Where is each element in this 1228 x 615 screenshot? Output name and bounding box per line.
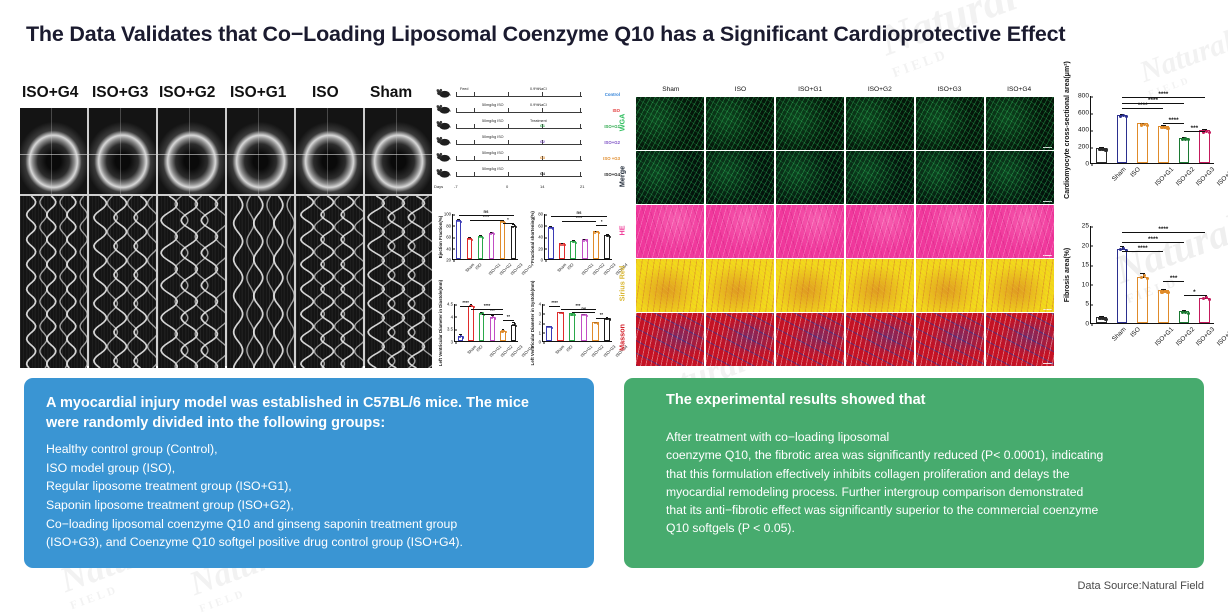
chart-data-point <box>493 233 495 235</box>
significance-label: **** <box>1122 102 1163 109</box>
chart-data-point <box>1208 131 1211 134</box>
chart-y-tick: 0 <box>1085 161 1091 168</box>
chart-x-tick: Sham <box>556 262 567 273</box>
chart-data-point <box>1104 148 1107 151</box>
chart-x-tick: ISO+G2 <box>1174 166 1195 187</box>
masson-stain-image <box>846 313 914 366</box>
chart-y-label: Fibrosis area(%) <box>1064 248 1071 302</box>
mouse-icon <box>436 168 451 179</box>
significance-label: **** <box>1122 226 1205 233</box>
sirius-red-stain-image <box>986 259 1054 312</box>
timeline-treatment: G4 <box>540 172 545 176</box>
sirius-red-stain-image <box>706 259 774 312</box>
chart-data-point <box>586 315 588 317</box>
chart-y-tick: 0 <box>541 258 545 263</box>
masson-stain-image <box>986 313 1054 366</box>
echo-label-3: ISO+G1 <box>230 84 286 102</box>
chart-y-label: Fractional shortening(%) <box>530 211 535 263</box>
masson-stain-image <box>916 313 984 366</box>
timeline-treatment: G3 <box>540 156 545 160</box>
significance-label: **** <box>1122 236 1184 243</box>
chart-data-point <box>575 242 577 244</box>
timeline-day-tick: 14 <box>540 184 544 189</box>
scale-bar <box>1043 255 1052 256</box>
chart-y-tick: 2 <box>539 321 543 326</box>
chart-data-point <box>1166 291 1169 294</box>
chart-y-tick: 0 <box>1085 321 1091 328</box>
chart-bar <box>1158 290 1169 323</box>
timeline-phase2: 0.9%NaCl <box>530 87 547 91</box>
chart-bar <box>1137 123 1148 163</box>
significance-label: **** <box>1122 245 1163 252</box>
chart-bar <box>511 226 517 259</box>
chart-data-point <box>515 226 517 228</box>
chart-plot-area: 20406080100ShamISOISO+G1ISO+G2ISO+G3ISO+… <box>452 214 518 260</box>
chart-y-label: Left Ventricular Diameter in Diastole(mm… <box>438 280 443 366</box>
data-source-footer: Data Source:Natural Field <box>1077 580 1204 592</box>
echo-mmode-image <box>20 196 87 368</box>
timeline-day-tick: -7 <box>454 184 458 189</box>
echo-bmode-image <box>365 108 432 194</box>
chart-bar <box>1137 277 1148 323</box>
chart-bar <box>557 312 563 341</box>
chart-y-tick: 3 <box>451 340 455 345</box>
lv-diameter-systole-chart: Left Ventricular Diameter in Systole(mm)… <box>528 290 618 366</box>
chart-y-tick: 4 <box>539 302 543 307</box>
histology-column-header: ISO+G1 <box>775 86 845 93</box>
significance-line <box>460 306 471 307</box>
echo-bmode-image <box>20 108 87 194</box>
wga-stain-image <box>846 97 914 150</box>
chart-bar <box>593 231 599 259</box>
chart-bar <box>500 221 506 259</box>
he-stain-image <box>916 205 984 258</box>
timeline-phase2: Treatment <box>530 119 547 123</box>
echo-label-1: ISO+G3 <box>92 84 148 102</box>
chart-x-tick: ISO+G1 <box>1154 166 1175 187</box>
timeline-row: 50mg/kg ISOG4ISO+G4 <box>434 164 620 180</box>
mouse-icon <box>436 120 451 131</box>
scale-bar <box>1043 309 1052 310</box>
echo-mmode-image <box>365 196 432 368</box>
timeline-phase1: 50mg/kg ISO <box>482 135 504 139</box>
merge-stain-image <box>776 151 844 204</box>
chart-x-tick: Sham <box>1111 326 1128 343</box>
timeline-phase1: 50mg/kg ISO <box>482 151 504 155</box>
significance-line <box>549 306 561 307</box>
histology-row-label: Masson <box>618 312 627 364</box>
chart-y-tick: 60 <box>538 223 545 228</box>
significance-line <box>470 220 503 221</box>
chart-x-tick: ISO <box>565 344 574 353</box>
methods-callout-box: A myocardial injury model was establishe… <box>24 378 594 568</box>
scale-bar <box>1043 363 1052 364</box>
chart-bar <box>1199 130 1210 163</box>
mouse-icon <box>436 88 451 99</box>
histology-column-header: ISO <box>706 86 776 93</box>
chart-data-point <box>1104 318 1107 321</box>
mouse-icon <box>436 152 451 163</box>
histology-column-header: Sham <box>636 86 706 93</box>
significance-label: ns <box>572 306 595 311</box>
chart-data-point <box>460 221 462 223</box>
scale-bar <box>1043 201 1052 202</box>
timeline-days-label: Days <box>434 184 443 189</box>
significance-label: *** <box>1163 275 1184 282</box>
timeline-phase1: Feed <box>460 87 468 91</box>
histology-column-headers: ShamISOISO+G1ISO+G2ISO+G3ISO+G4 <box>636 84 1054 97</box>
significance-label: * <box>596 219 607 224</box>
chart-y-tick: 60 <box>446 235 453 240</box>
timeline-phase1: 50mg/kg ISO <box>482 119 504 123</box>
fibrosis-area-chart: Fibrosis area(%)0510152025ShamISOISO+G1I… <box>1060 212 1220 364</box>
chart-bar <box>468 306 474 341</box>
significance-label: ** <box>503 314 514 319</box>
significance-label: * <box>1184 289 1205 296</box>
chart-plot-area: 0200400600800ShamISOISO+G1ISO+G2ISO+G3IS… <box>1090 96 1214 164</box>
histology-column-header: ISO+G2 <box>845 86 915 93</box>
chart-x-tick: ISO+G1 <box>1154 326 1175 347</box>
chart-plot-area: 01234ShamISOISO+G1ISO+G2ISO+G3ISO+G4****… <box>542 304 612 342</box>
chart-y-tick: 100 <box>444 212 453 217</box>
chart-y-tick: 25 <box>1082 223 1091 230</box>
chart-data-point <box>1187 312 1190 315</box>
he-stain-image <box>846 205 914 258</box>
chart-y-label: Ejection Fraction(%) <box>438 216 443 258</box>
chart-bar <box>1117 249 1128 323</box>
chart-y-tick: 10 <box>1082 281 1091 288</box>
chart-x-tick: Sham <box>464 262 475 273</box>
echo-label-5: Sham <box>370 84 412 102</box>
echo-bmode-image <box>296 108 363 194</box>
chart-bar <box>456 220 462 259</box>
chart-data-point <box>515 325 517 327</box>
chart-data-point <box>1208 298 1211 301</box>
chart-y-tick: 4 <box>451 314 455 319</box>
chart-y-tick: 200 <box>1078 144 1091 151</box>
histology-image-grid <box>636 97 1054 366</box>
significance-label: * <box>503 217 514 222</box>
echo-label-0: ISO+G4 <box>22 84 78 102</box>
chart-y-tick: 20 <box>538 246 545 251</box>
timeline-treatment: G2 <box>540 140 545 144</box>
cardiomyocyte-area-chart: Cardiomyocyte cross-sectional area(μm²)0… <box>1060 88 1220 198</box>
chart-y-tick: 20 <box>446 258 453 263</box>
significance-label: **** <box>549 300 561 305</box>
significance-line <box>596 318 608 319</box>
chart-y-tick: 80 <box>446 223 453 228</box>
chart-data-point <box>1166 127 1169 130</box>
chart-x-tick: ISO <box>474 262 483 271</box>
chart-y-tick: 0 <box>539 340 543 345</box>
chart-bar <box>569 313 575 341</box>
chart-bar <box>1117 115 1128 163</box>
chart-data-point <box>1146 124 1149 127</box>
merge-stain-image <box>986 151 1054 204</box>
chart-y-label: Left Ventricular Diameter in Systole(mm) <box>530 281 535 366</box>
significance-label: *** <box>482 308 503 313</box>
chart-x-tick: ISO <box>1130 326 1143 339</box>
chart-y-tick: 3.5 <box>447 327 455 332</box>
chart-y-tick: 40 <box>538 235 545 240</box>
echo-bmode-image <box>227 108 294 194</box>
he-stain-image <box>986 205 1054 258</box>
echo-mmode-image <box>89 196 156 368</box>
methods-heading: A myocardial injury model was establishe… <box>46 394 546 433</box>
chart-y-tick: 3 <box>539 311 543 316</box>
chart-x-tick: ISO+G4 <box>1216 326 1228 347</box>
chart-y-label: Cardiomyocyte cross-sectional area(μm²) <box>1064 61 1071 199</box>
masson-stain-image <box>636 313 704 366</box>
significance-line <box>482 314 503 315</box>
significance-label: **** <box>470 214 503 219</box>
chart-data-point <box>598 232 600 234</box>
significance-label: **** <box>460 300 471 305</box>
timeline-phase1: 50mg/kg ISO <box>482 103 504 107</box>
chart-y-tick: 600 <box>1078 110 1091 117</box>
chart-data-point <box>552 227 554 229</box>
results-callout-box: The experimental results showed that Aft… <box>624 378 1204 568</box>
echocardiography-panel: ISO+G4 ISO+G3 ISO+G2 ISO+G1 ISO Sham <box>20 84 432 366</box>
sirius-red-stain-image <box>636 259 704 312</box>
histology-row-label: Merge <box>618 150 627 202</box>
chart-x-tick: ISO <box>475 344 484 353</box>
significance-label: ns <box>551 210 608 215</box>
significance-line <box>562 221 596 222</box>
significance-line <box>572 312 595 313</box>
significance-line <box>503 320 514 321</box>
chart-data-point <box>1187 138 1190 141</box>
chart-data-point <box>482 237 484 239</box>
timeline-row: 50mg/kg ISOG3ISO +G3 <box>434 148 620 164</box>
timeline-row: 50mg/kg ISOTreatmentG1ISO+G1 <box>434 116 620 132</box>
merge-stain-image <box>706 151 774 204</box>
page-title: The Data Validates that Co−Loading Lipos… <box>26 22 1065 47</box>
timeline-row: Feed0.9%NaClControl <box>434 84 620 100</box>
he-stain-image <box>776 205 844 258</box>
echo-mmode-image <box>227 196 294 368</box>
experiment-timeline-diagram: Feed0.9%NaClControl50mg/kg ISO0.9%NaClIS… <box>434 84 620 192</box>
significance-label: **** <box>1163 117 1184 124</box>
chart-x-tick: ISO+G3 <box>1195 326 1216 347</box>
significance-label: **** <box>562 215 596 220</box>
masson-stain-image <box>706 313 774 366</box>
significance-line <box>596 225 607 226</box>
chart-data-point <box>551 327 553 329</box>
wga-stain-image <box>706 97 774 150</box>
chart-bar <box>592 322 598 341</box>
chart-plot-area: 020406080ShamISOISO+G1ISO+G2ISO+G3ISO+G4… <box>544 214 612 260</box>
wga-stain-image <box>916 97 984 150</box>
significance-label: ** <box>596 312 608 317</box>
scale-bar <box>1043 147 1052 148</box>
masson-stain-image <box>776 313 844 366</box>
chart-plot-area: 0510152025ShamISOISO+G1ISO+G2ISO+G3ISO+G… <box>1090 226 1214 324</box>
results-body: After treatment with co−loading liposoma… <box>666 428 1186 538</box>
chart-bar <box>1179 138 1190 164</box>
histology-column-header: ISO+G3 <box>915 86 985 93</box>
histology-row-label: Sirius Red <box>618 258 627 310</box>
histology-column-header: ISO+G4 <box>984 86 1054 93</box>
chart-bar <box>548 227 554 259</box>
timeline-treatment: G1 <box>540 124 545 128</box>
chart-x-tick: ISO <box>1130 166 1143 179</box>
sirius-red-stain-image <box>916 259 984 312</box>
results-heading: The experimental results showed that <box>666 392 925 408</box>
chart-plot-area: 33.544.5ShamISOISO+G1ISO+G2ISO+G3ISO+G4*… <box>454 304 518 342</box>
he-stain-image <box>636 205 704 258</box>
significance-label: *** <box>1184 125 1205 132</box>
chart-data-point <box>462 336 464 338</box>
wga-stain-image <box>636 97 704 150</box>
echo-label-2: ISO+G2 <box>159 84 215 102</box>
timeline-day-tick: 21 <box>580 184 584 189</box>
echo-label-4: ISO <box>312 84 339 102</box>
fractional-shortening-chart: Fractional shortening(%)020406080ShamISO… <box>528 200 618 284</box>
timeline-row: 50mg/kg ISOG2ISO+G2 <box>434 132 620 148</box>
lv-diameter-diastole-chart: Left Ventricular Diameter in Diastole(mm… <box>436 290 524 366</box>
timeline-phase1: 50mg/kg ISO <box>482 167 504 171</box>
chart-y-tick: 4.5 <box>447 302 455 307</box>
chart-bar <box>478 236 484 259</box>
chart-data-point <box>586 240 588 242</box>
significance-line <box>503 223 514 224</box>
chart-bar <box>490 317 496 341</box>
merge-stain-image <box>636 151 704 204</box>
chart-x-tick: ISO <box>566 262 575 271</box>
merge-stain-image <box>916 151 984 204</box>
chart-y-tick: 1 <box>539 330 543 335</box>
chart-x-tick: Sham <box>554 344 565 355</box>
chart-data-point <box>494 317 496 319</box>
timeline-row: 50mg/kg ISO0.9%NaClISO <box>434 100 620 116</box>
timeline-day-tick: 0 <box>506 184 508 189</box>
histology-row-label: HE <box>618 204 627 256</box>
chart-x-tick: Sham <box>1111 166 1128 183</box>
chart-data-point <box>1125 115 1128 118</box>
ejection-fraction-chart: Ejection Fraction(%)20406080100ShamISOIS… <box>436 200 524 284</box>
chart-x-tick: ISO+G2 <box>1174 326 1195 347</box>
echo-mmode-image <box>158 196 225 368</box>
chart-bar <box>582 239 588 259</box>
chart-bar <box>1199 298 1210 323</box>
chart-y-tick: 20 <box>1082 242 1091 249</box>
chart-bar <box>479 313 485 341</box>
echo-image-grid <box>20 108 432 366</box>
histology-row-label: WGA <box>618 96 627 148</box>
chart-bar <box>581 314 587 341</box>
mouse-icon <box>436 136 451 147</box>
wga-stain-image <box>986 97 1054 150</box>
mouse-icon <box>436 104 451 115</box>
chart-bar <box>467 238 473 259</box>
chart-y-tick: 80 <box>538 212 545 217</box>
chart-bar <box>489 233 495 259</box>
chart-y-tick: 40 <box>446 246 453 251</box>
chart-y-tick: 400 <box>1078 127 1091 134</box>
sirius-red-stain-image <box>776 259 844 312</box>
chart-data-point <box>1146 277 1149 280</box>
chart-bar <box>1158 126 1169 163</box>
chart-data-point <box>471 239 473 241</box>
chart-x-tick: ISO+G3 <box>1195 166 1216 187</box>
timeline-phase2: 0.9%NaCl <box>530 103 547 107</box>
histology-panel: ShamISOISO+G1ISO+G2ISO+G3ISO+G4 WGAMerge… <box>610 84 1054 366</box>
echo-mmode-image <box>296 196 363 368</box>
wga-stain-image <box>776 97 844 150</box>
chart-y-tick: 800 <box>1078 93 1091 100</box>
chart-data-point <box>597 323 599 325</box>
chart-x-tick: ISO+G4 <box>1216 166 1228 187</box>
sirius-red-stain-image <box>846 259 914 312</box>
chart-y-tick: 5 <box>1085 301 1091 308</box>
chart-y-tick: 15 <box>1082 262 1091 269</box>
echo-column-labels: ISO+G4 ISO+G3 ISO+G2 ISO+G1 ISO Sham <box>20 84 432 108</box>
merge-stain-image <box>846 151 914 204</box>
he-stain-image <box>706 205 774 258</box>
methods-body: Healthy control group (Control), ISO mod… <box>46 440 586 552</box>
echo-bmode-image <box>158 108 225 194</box>
echo-bmode-image <box>89 108 156 194</box>
